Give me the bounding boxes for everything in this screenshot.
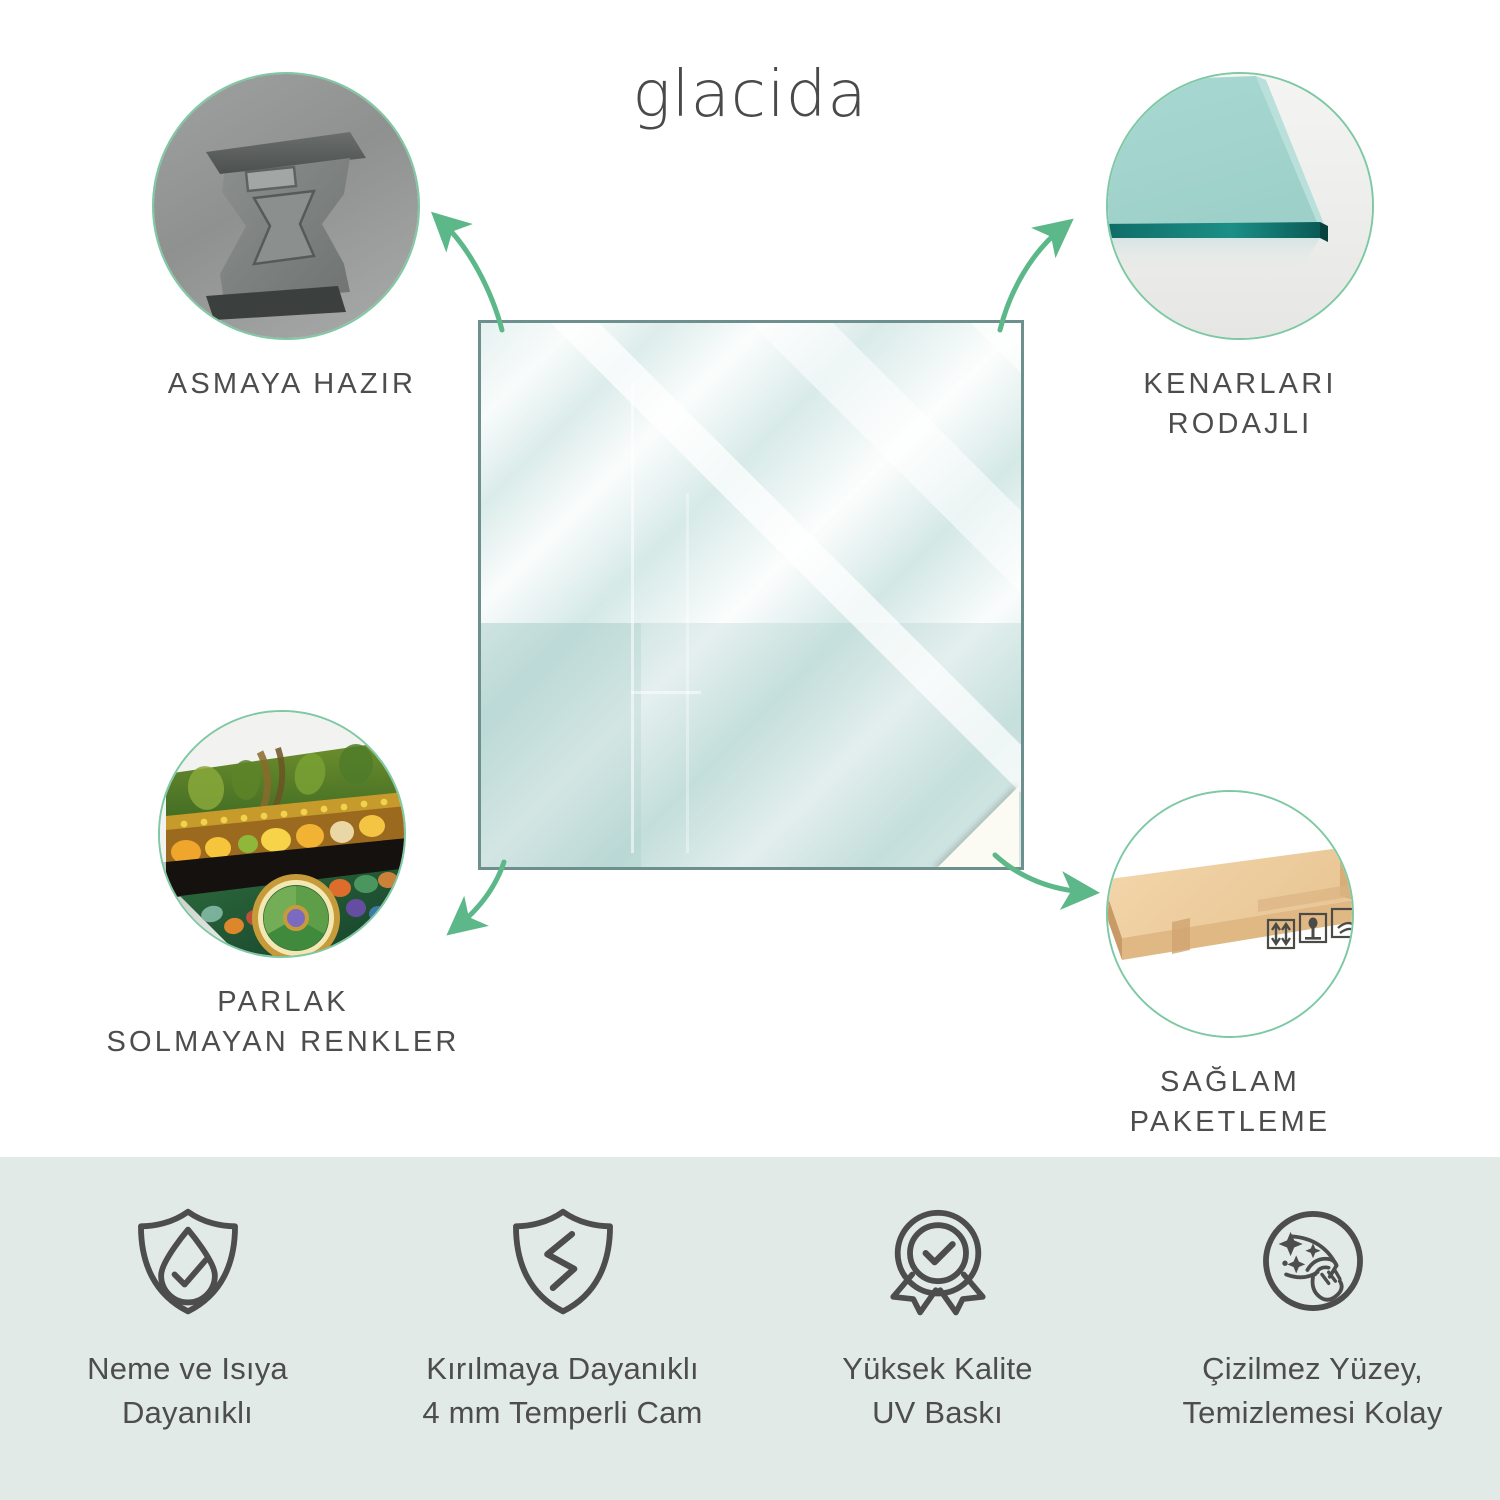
benefit-break-resistant: Kırılmaya Dayanıklı 4 mm Temperli Cam bbox=[375, 1157, 750, 1500]
benefit-high-quality-uv-print: Yüksek Kalite UV Baskı bbox=[750, 1157, 1125, 1500]
benefit-label: Yüksek Kalite UV Baskı bbox=[842, 1347, 1032, 1435]
glass-reflection-band bbox=[481, 623, 641, 870]
feature-caption: KENARLARI RODAJLI bbox=[1050, 364, 1430, 444]
polished-glass-edge-photo bbox=[1108, 74, 1372, 338]
benefit-label: Kırılmaya Dayanıklı 4 mm Temperli Cam bbox=[422, 1347, 702, 1435]
feature-image-packaging bbox=[1106, 790, 1354, 1038]
bracket-shape-icon bbox=[154, 74, 420, 340]
infographic-page: glacida bbox=[0, 0, 1500, 1500]
glass-reflection-mullion bbox=[631, 383, 634, 853]
shield-water-drop-check-icon bbox=[132, 1205, 244, 1317]
feature-kenarlari-rodajli: KENARLARI RODAJLI bbox=[1100, 72, 1380, 444]
glass-edge-shape-icon bbox=[1108, 74, 1374, 340]
glass-reflection-mullion bbox=[631, 691, 701, 694]
cardboard-box-shape-icon bbox=[1108, 792, 1354, 1038]
shield-crack-resistant-icon bbox=[507, 1205, 619, 1317]
feature-asmaya-hazir: ASMAYA HAZIR bbox=[152, 72, 432, 404]
quality-award-badge-icon bbox=[882, 1205, 994, 1317]
arrow-to-kenarlari-rodajli bbox=[1000, 228, 1062, 330]
benefit-label: Neme ve Isıya Dayanıklı bbox=[87, 1347, 288, 1435]
stained-glass-mosaic-art-photo bbox=[160, 712, 404, 956]
sparkle-hand-wipe-icon bbox=[1257, 1205, 1369, 1317]
mosaic-art-shape-icon bbox=[160, 712, 406, 958]
benefit-moisture-heat-resistant: Neme ve Isıya Dayanıklı bbox=[0, 1157, 375, 1500]
feature-caption: ASMAYA HAZIR bbox=[82, 364, 502, 404]
feature-parlak-solmayan-renkler: PARLAK SOLMAYAN RENKLER bbox=[158, 710, 408, 1062]
protective-film-peel bbox=[935, 782, 1023, 870]
glass-reflection-mullion bbox=[686, 493, 689, 853]
benefits-bar: Neme ve Isıya Dayanıklı Kırılmaya Dayanı… bbox=[0, 1157, 1500, 1500]
feature-image-polished-edge bbox=[1106, 72, 1374, 340]
arrow-to-parlak-solmayan-renkler bbox=[458, 862, 504, 926]
feature-image-hanging-bracket bbox=[152, 72, 420, 340]
hanging-bracket-photo bbox=[154, 74, 418, 338]
benefit-label: Çizilmez Yüzey, Temizlemesi Kolay bbox=[1182, 1347, 1442, 1435]
feature-image-mosaic-art bbox=[158, 710, 406, 958]
tempered-glass-panel bbox=[478, 320, 1024, 870]
cardboard-package-photo bbox=[1108, 792, 1352, 1036]
feature-caption: PARLAK SOLMAYAN RENKLER bbox=[48, 982, 518, 1062]
feature-caption: SAĞLAM PAKETLEME bbox=[1030, 1062, 1430, 1142]
benefit-scratch-free-easy-clean: Çizilmez Yüzey, Temizlemesi Kolay bbox=[1125, 1157, 1500, 1500]
arrow-to-asmaya-hazir bbox=[442, 222, 502, 330]
feature-saglam-paketleme: SAĞLAM PAKETLEME bbox=[1105, 790, 1355, 1142]
